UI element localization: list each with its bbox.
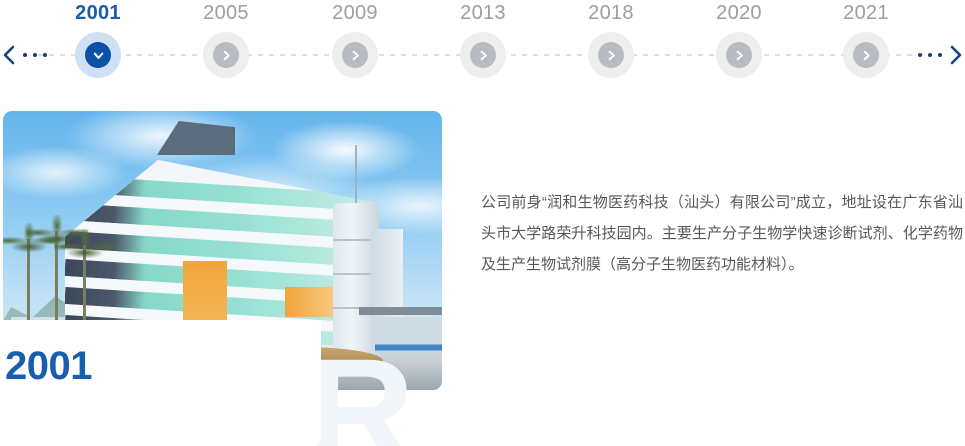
node-circle-2009	[342, 42, 368, 68]
timeline-prev-button[interactable]	[0, 40, 47, 70]
timeline-year-label-2001[interactable]: 2001	[38, 2, 158, 25]
timeline-node-2001[interactable]	[75, 32, 121, 78]
chevron-left-icon	[0, 44, 18, 66]
chevron-down-icon	[92, 49, 105, 62]
chevron-right-icon	[349, 49, 362, 62]
photo-building-roof	[157, 121, 235, 155]
timeline-page: 2001 2005 2009 2013 2018 2020 2021	[0, 0, 965, 446]
node-circle-2005	[213, 42, 239, 68]
timeline-year-label-2009[interactable]: 2009	[295, 2, 415, 25]
timeline-node-2005[interactable]	[203, 32, 249, 78]
photo-canopy	[359, 307, 442, 315]
node-circle-2021	[853, 42, 879, 68]
prev-dots	[23, 53, 47, 57]
chevron-right-icon	[220, 49, 233, 62]
next-dot-2	[928, 53, 932, 57]
timeline-next-button[interactable]	[918, 40, 965, 70]
photo-building-accent-panel	[285, 287, 337, 317]
timeline-year-label-2013[interactable]: 2013	[423, 2, 543, 25]
timeline-node-2021[interactable]	[843, 32, 889, 78]
node-circle-2018	[598, 42, 624, 68]
timeline-node-2009[interactable]	[332, 32, 378, 78]
timeline-year-label-2020[interactable]: 2020	[679, 2, 799, 25]
timeline-year-label-2005[interactable]: 2005	[166, 2, 286, 25]
next-dots	[918, 53, 942, 57]
next-dot-3	[938, 53, 942, 57]
timeline-bar: 2001 2005 2009 2013 2018 2020 2021	[0, 0, 965, 84]
timeline-node-2020[interactable]	[716, 32, 762, 78]
chevron-right-icon	[733, 49, 746, 62]
node-circle-2001	[85, 42, 111, 68]
chevron-right-icon	[947, 44, 965, 66]
chevron-right-icon	[605, 49, 618, 62]
timeline-node-2018[interactable]	[588, 32, 634, 78]
node-circle-2020	[726, 42, 752, 68]
node-circle-2013	[470, 42, 496, 68]
timeline-year-label-2021[interactable]: 2021	[806, 2, 926, 25]
photo-tower-mast	[355, 145, 357, 205]
timeline-content-panel: YEAR 2001 公司前身“润和生物医药科技（汕头）有限公司”成立，地址设在广…	[0, 84, 965, 446]
timeline-year-label-2018[interactable]: 2018	[551, 2, 671, 25]
next-dot-1	[918, 53, 922, 57]
milestone-year-badge: 2001	[5, 346, 92, 386]
milestone-description: 公司前身“润和生物医药科技（汕头）有限公司”成立，地址设在广东省汕头市大学路荣升…	[481, 187, 963, 280]
chevron-right-icon	[860, 49, 873, 62]
prev-dot-1	[23, 53, 27, 57]
photo-palm-fronds-3	[54, 229, 116, 263]
prev-dot-3	[43, 53, 47, 57]
chevron-right-icon	[477, 49, 490, 62]
timeline-node-2013[interactable]	[460, 32, 506, 78]
prev-dot-2	[33, 53, 37, 57]
